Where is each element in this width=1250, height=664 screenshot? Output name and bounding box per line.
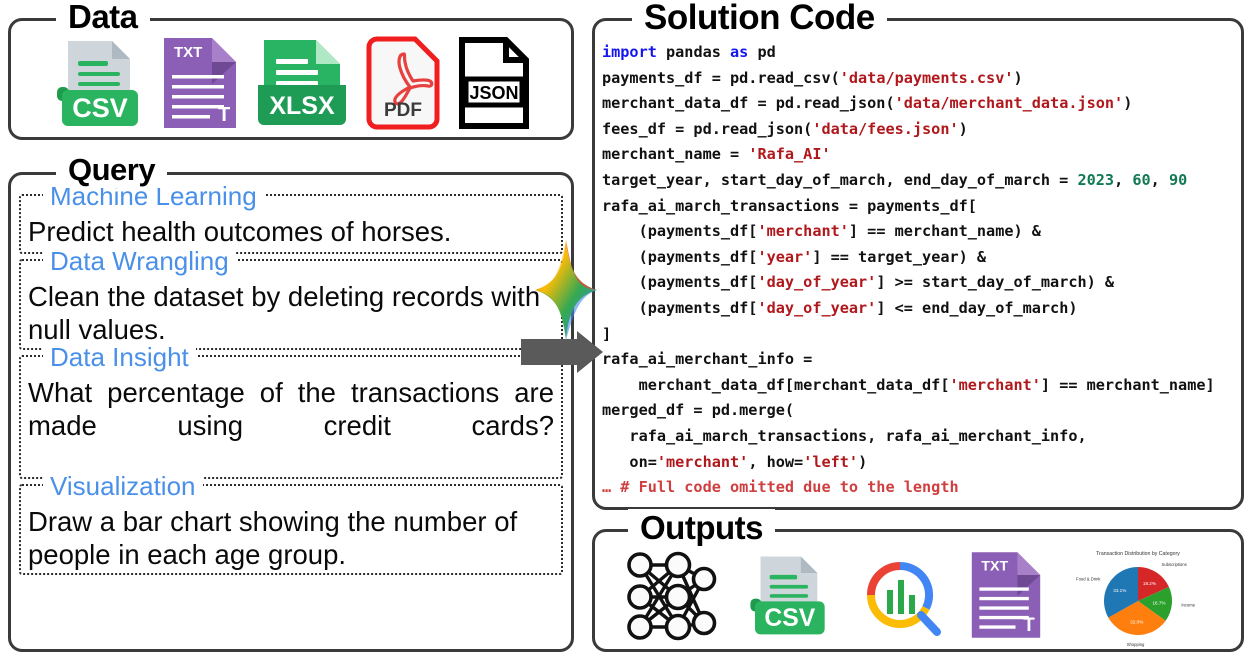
query-card-data-wrangling[interactable]: Data Wrangling Clean the dataset by dele… [19, 259, 563, 350]
data-panel: Data CSV [8, 18, 574, 140]
svg-text:JSON: JSON [469, 83, 518, 103]
code-line: fees_df = pd.read_json('data/fees.json') [602, 117, 1238, 143]
svg-text:CSV: CSV [72, 93, 128, 123]
query-tag-label: Data Wrangling [43, 246, 236, 276]
pie-slice-label: Food & Drink [1076, 576, 1101, 581]
pie-slice-value: 18.2% [1143, 580, 1156, 585]
csv-file-icon: CSV [50, 37, 146, 129]
outputs-panel-title: Outputs [628, 509, 775, 547]
pie-slice-value: 16.7% [1152, 600, 1165, 605]
code-line: merged_df = pd.merge( [602, 398, 1238, 424]
txt-file-icon: TXT T [968, 549, 1044, 641]
code-line: … # Full code omitted due to the length [602, 475, 1238, 501]
code-line: target_year, start_day_of_march, end_day… [602, 168, 1238, 194]
pie-slice-value: 32.0% [1130, 619, 1143, 624]
code-line: (payments_df['day_of_year'] >= start_day… [602, 270, 1238, 296]
csv-file-icon: CSV [744, 551, 832, 639]
query-text: Clean the dataset by deleting records wi… [28, 280, 554, 346]
data-panel-title: Data [56, 0, 150, 36]
query-card-data-insight[interactable]: Data Insight What percentage of the tran… [19, 355, 563, 479]
outputs-panel-body: CSV [592, 529, 1244, 652]
code-line: merchant_data_df[merchant_data_df['merch… [602, 373, 1238, 399]
query-list: Machine Learning Predict health outcomes… [19, 194, 563, 645]
pie-slice-value: 33.1% [1113, 587, 1126, 592]
svg-text:XLSX: XLSX [269, 92, 335, 120]
query-card-machine-learning[interactable]: Machine Learning Predict health outcomes… [19, 194, 563, 254]
query-tag-label: Visualization [43, 471, 203, 501]
code-line: (payments_df['year'] == target_year) & [602, 245, 1238, 271]
pie-chart-title: Transaction Distribution by Category [1096, 551, 1180, 557]
code-line: merchant_data_df = pd.read_json('data/me… [602, 91, 1238, 117]
data-file-icon-row: CSV TXT T [8, 18, 574, 140]
pdf-file-icon: PDF [364, 36, 442, 130]
json-file-icon: JSON [456, 36, 532, 130]
svg-text:PDF: PDF [384, 100, 422, 121]
query-text: Draw a bar chart showing the number of p… [28, 505, 554, 571]
query-card-visualization[interactable]: Visualization Draw a bar chart showing t… [19, 484, 563, 575]
outputs-panel: Outputs [592, 529, 1244, 652]
query-text: Predict health outcomes of horses. [28, 215, 554, 248]
query-text: What percentage of the transactions are … [28, 376, 554, 475]
code-panel-body: import pandas as pdpayments_df = pd.read… [592, 18, 1244, 510]
code-line: rafa_ai_march_transactions = payments_df… [602, 194, 1238, 220]
pie-slice-label: Shopping [1127, 641, 1145, 646]
code-line: ] [602, 322, 1238, 348]
query-panel: Query Machine Learning Predict health ou… [8, 172, 574, 652]
code-line: rafa_ai_march_transactions, rafa_ai_merc… [602, 424, 1238, 450]
code-line: (payments_df['day_of_year'] <= end_day_o… [602, 296, 1238, 322]
txt-file-icon: TXT T [160, 35, 240, 131]
code-line: on='merchant', how='left') [602, 450, 1238, 476]
svg-text:CSV: CSV [764, 605, 815, 632]
pie-slice-label: Income [1181, 602, 1195, 607]
code-line: merchant_name = 'Rafa_AI' [602, 142, 1238, 168]
query-panel-body: Machine Learning Predict health outcomes… [8, 172, 574, 652]
data-analysis-magnifier-icon [858, 553, 942, 637]
code-line: rafa_ai_merchant_info = [602, 347, 1238, 373]
solution-code-panel: Solution Code import pandas as pdpayment… [592, 18, 1244, 510]
code-panel-title: Solution Code [632, 0, 887, 38]
svg-text:T: T [1023, 615, 1035, 636]
code-block[interactable]: import pandas as pdpayments_df = pd.read… [602, 40, 1238, 506]
outputs-icon-row: CSV [592, 529, 1244, 652]
svg-text:T: T [218, 104, 230, 126]
xlsx-file-icon: XLSX [254, 37, 350, 129]
code-line: (payments_df['merchant'] == merchant_nam… [602, 219, 1238, 245]
data-panel-body: CSV TXT T [8, 18, 574, 140]
svg-text:TXT: TXT [174, 44, 202, 61]
neural-network-icon [618, 549, 718, 641]
pie-slice-label: Subscriptions [1162, 561, 1187, 566]
code-line: payments_df = pd.read_csv('data/payments… [602, 66, 1238, 92]
query-panel-title: Query [56, 152, 167, 188]
figure-root: Data CSV [0, 0, 1250, 664]
svg-text:TXT: TXT [981, 558, 1008, 574]
code-line: import pandas as pd [602, 40, 1238, 66]
query-tag-label: Data Insight [43, 342, 196, 372]
ai-sparkle-icon [533, 238, 599, 342]
pie-chart-icon: Transaction Distribution by Category18.2… [1070, 543, 1218, 647]
